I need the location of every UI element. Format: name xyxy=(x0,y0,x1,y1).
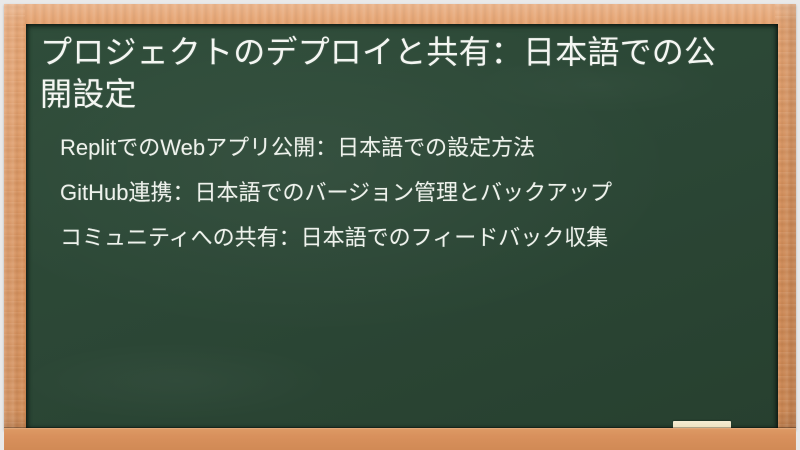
chalkboard-surface: プロジェクトのデプロイと共有：日本語での公開設定 ReplitでのWebアプリ公… xyxy=(26,24,778,430)
slide-content: プロジェクトのデプロイと共有：日本語での公開設定 ReplitでのWebアプリ公… xyxy=(26,24,778,430)
chalk-tray-ledge xyxy=(4,428,796,450)
bullet-list: ReplitでのWebアプリ公開：日本語での設定方法 GitHub連携：日本語で… xyxy=(38,133,752,252)
slide-canvas: プロジェクトのデプロイと共有：日本語での公開設定 ReplitでのWebアプリ公… xyxy=(0,0,800,450)
chalkboard-frame: プロジェクトのデプロイと共有：日本語での公開設定 ReplitでのWebアプリ公… xyxy=(4,4,796,430)
bullet-item-2: GitHub連携：日本語でのバージョン管理とバックアップ xyxy=(60,178,740,207)
bullet-item-1: ReplitでのWebアプリ公開：日本語での設定方法 xyxy=(60,133,740,162)
frame-grain-right xyxy=(775,4,796,430)
frame-grain-left xyxy=(4,4,25,430)
bullet-item-3: コミュニティへの共有：日本語でのフィードバック収集 xyxy=(60,223,740,252)
slide-title: プロジェクトのデプロイと共有：日本語での公開設定 xyxy=(38,32,730,115)
